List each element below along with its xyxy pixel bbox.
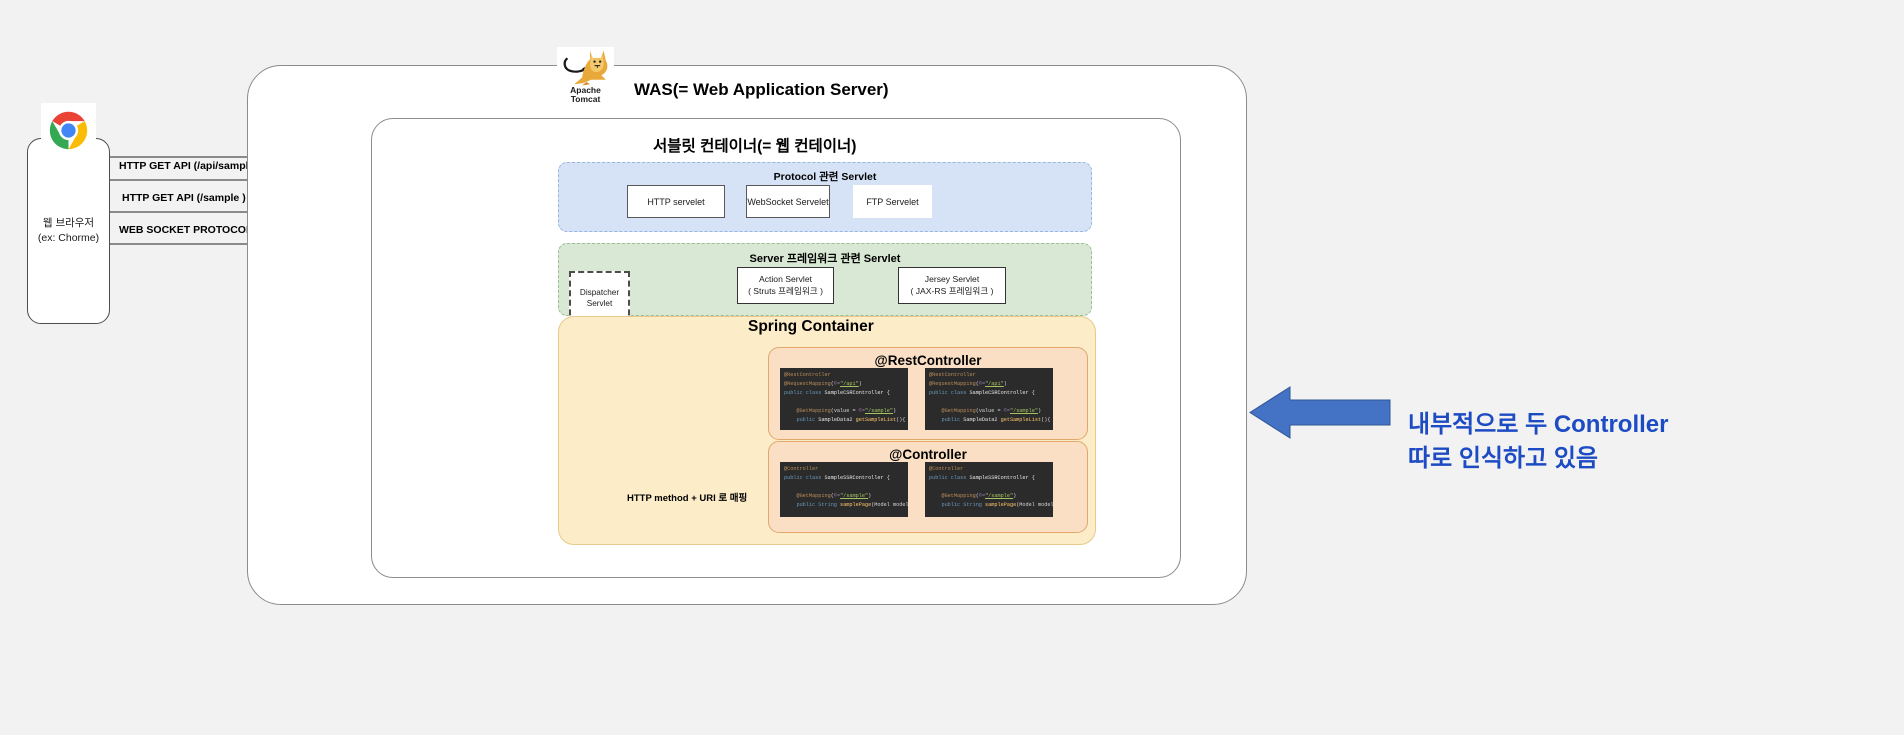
spring-container-title: Spring Container xyxy=(748,318,874,336)
code-block-rest-controller-right: @RestController@RequestMapping(©="/api")… xyxy=(925,368,1053,430)
action-servlet-line2: ( Struts 프레임워크 ) xyxy=(748,286,823,298)
annotation-label: 내부적으로 두 Controller따로 인식하고 있음 xyxy=(1408,408,1828,476)
was-title: WAS(= Web Application Server) xyxy=(634,80,889,100)
connection-label-sample: HTTP GET API (/sample ) xyxy=(122,192,246,204)
code-block-controller-right: @Controllerpublic class SampleSSRControl… xyxy=(925,462,1053,517)
dispatcher-inactive-line2: Servlet xyxy=(587,299,612,308)
chrome-icon xyxy=(41,103,96,158)
dispatcher-inactive-line1: Dispatcher xyxy=(580,288,619,297)
protocol-servlet-group-title: Protocol 관련 Servlet xyxy=(559,169,1091,184)
action-servlet-box[interactable]: Action Servlet ( Struts 프레임워크 ) xyxy=(737,267,834,304)
ftp-servlet-box[interactable]: FTP Servelet xyxy=(853,185,932,218)
rest-controller-group-title: @RestController xyxy=(769,353,1087,368)
websocket-servlet-box[interactable]: WebSocket Servelet xyxy=(746,185,830,218)
controller-group-title: @Controller xyxy=(769,447,1087,462)
web-browser-box: 웹 브라우저(ex: Chorme) xyxy=(27,138,110,324)
annotation-block-arrow xyxy=(1250,387,1390,438)
server-framework-servlet-group-title: Server 프레임워크 관련 Servlet xyxy=(559,250,1091,266)
action-servlet-line1: Action Servlet xyxy=(759,274,812,286)
mapping-note-label: HTTP method + URI 로 매핑 xyxy=(627,490,747,504)
connection-label-api-sample: HTTP GET API (/api/sample) xyxy=(119,160,258,172)
tomcat-logo-text: Apache Tomcat xyxy=(557,86,614,104)
code-block-rest-controller-left: @RestController@RequestMapping(©="/api")… xyxy=(780,368,908,430)
jersey-servlet-line2: ( JAX-RS 프레임워크 ) xyxy=(911,286,994,298)
jersey-servlet-line1: Jersey Servlet xyxy=(925,274,979,286)
code-block-controller-left: @Controllerpublic class SampleSSRControl… xyxy=(780,462,908,517)
servlet-container-title: 서블릿 컨테이너(= 웹 컨테이너) xyxy=(653,134,856,156)
jersey-servlet-box[interactable]: Jersey Servlet ( JAX-RS 프레임워크 ) xyxy=(898,267,1006,304)
apache-tomcat-logo: Apache Tomcat xyxy=(557,47,614,107)
web-browser-label: 웹 브라우저(ex: Chorme) xyxy=(38,216,99,246)
connection-label-websocket: WEB SOCKET PROTOCOL xyxy=(119,224,252,236)
http-servlet-box[interactable]: HTTP servelet xyxy=(627,185,725,218)
diagram-canvas: 웹 브라우저(ex: Chorme) HTTP GET API (/api/sa… xyxy=(0,0,1904,735)
